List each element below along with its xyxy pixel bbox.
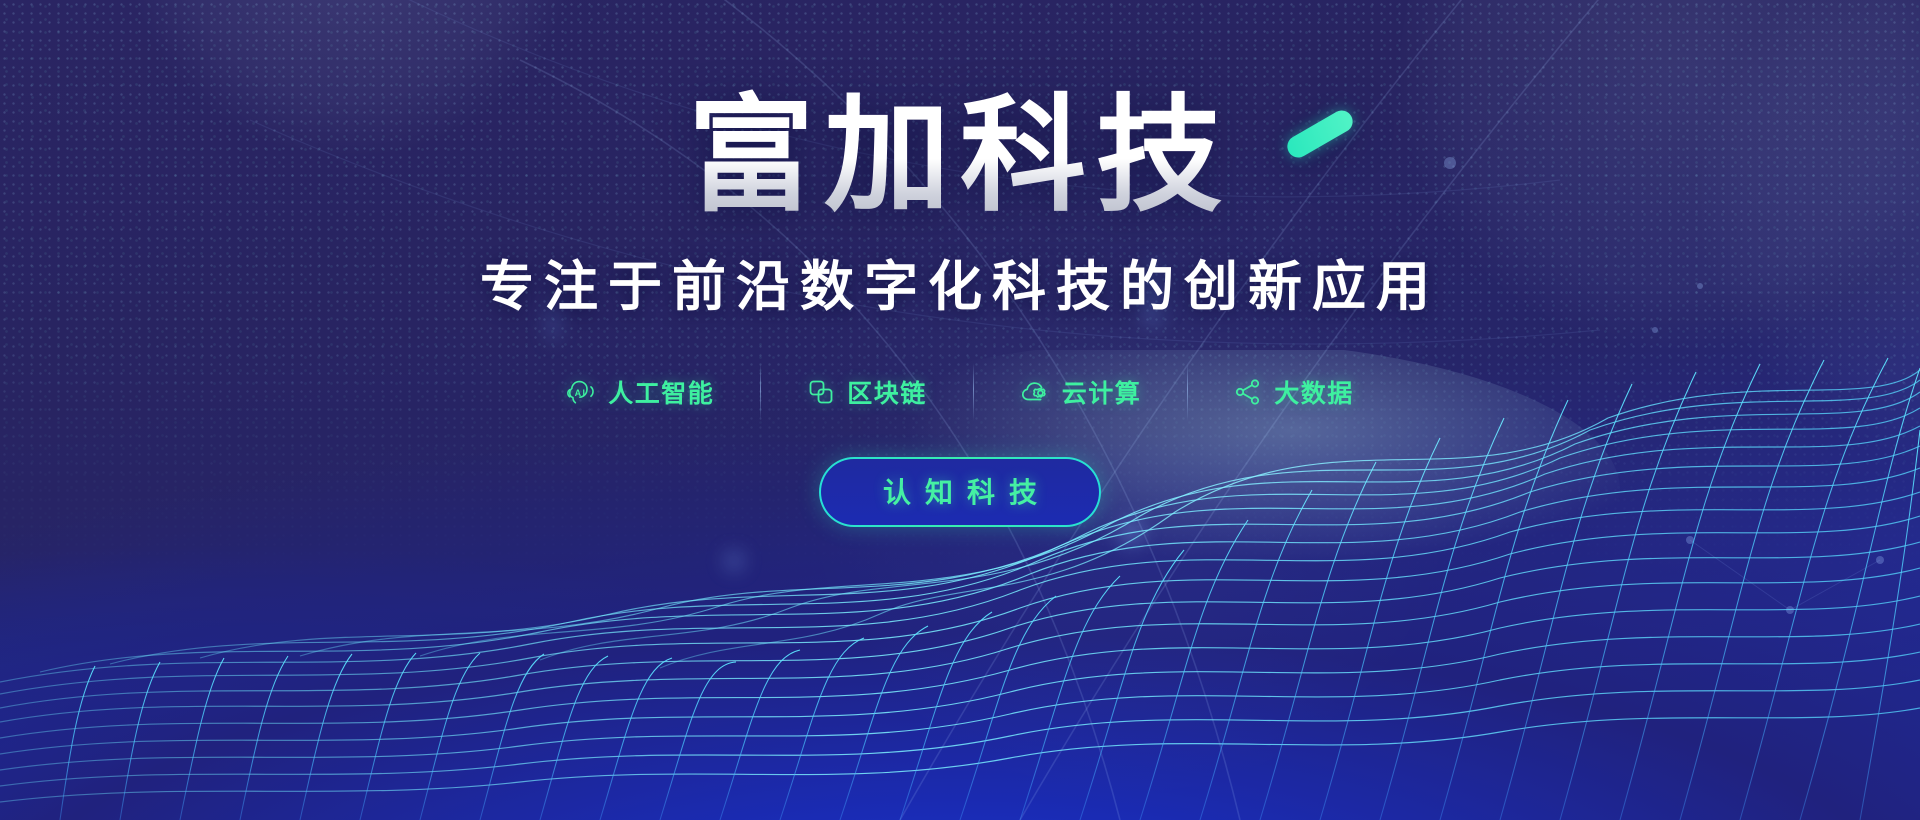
feature-tag-label: 大数据 — [1274, 374, 1354, 410]
cognitive-tech-badge[interactable]: 认知科技 — [819, 457, 1101, 527]
brand-logo: 富加科技 — [688, 88, 1232, 224]
blockchain-icon — [807, 378, 835, 406]
feature-tag-label: 区块链 — [847, 374, 927, 410]
feature-tag-label: 人工智能 — [608, 374, 714, 410]
cognitive-tech-badge-label: 认知科技 — [821, 459, 1099, 525]
brand-logo-text: 富加科技 — [688, 85, 1232, 226]
svg-text:AI: AI — [575, 388, 587, 398]
share-nodes-icon — [1234, 378, 1262, 406]
feature-tag-cloud[interactable]: 云计算 — [974, 374, 1188, 410]
feature-tag-label: 云计算 — [1062, 374, 1142, 410]
feature-tag-ai[interactable]: AI 人工智能 — [520, 374, 760, 410]
feature-tag-blockchain[interactable]: 区块链 — [761, 374, 973, 410]
hero-content: 富加科技 专注于前沿数字化科技的创新应用 AI 人工智能 — [0, 0, 1920, 820]
logo-accent-stroke-icon — [1283, 106, 1356, 161]
cloud-gear-icon — [1020, 377, 1050, 407]
ai-head-icon: AI — [566, 377, 596, 407]
feature-tag-list: AI 人工智能 区块链 — [520, 363, 1400, 421]
hero-subtitle: 专注于前沿数字化科技的创新应用 — [480, 242, 1440, 321]
feature-tag-bigdata[interactable]: 大数据 — [1188, 374, 1400, 410]
hero-banner: 富加科技 专注于前沿数字化科技的创新应用 AI 人工智能 — [0, 0, 1920, 820]
